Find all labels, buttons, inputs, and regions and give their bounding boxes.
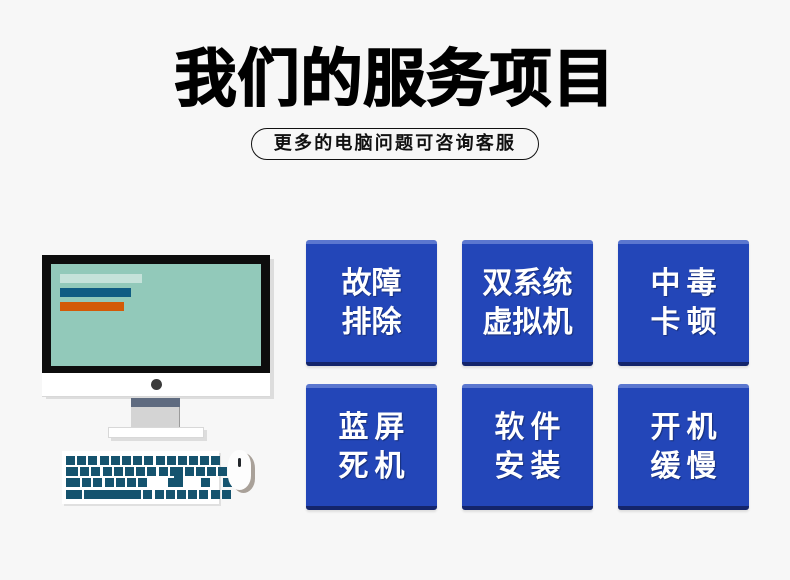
keyboard-key xyxy=(199,490,208,499)
monitor-icon xyxy=(42,255,270,403)
keyboard-key xyxy=(114,467,123,476)
monitor-stand-top xyxy=(131,398,180,407)
service-tile-line2: 死机 xyxy=(333,447,411,486)
keyboard-key xyxy=(144,456,153,465)
subtitle-pill: 更多的电脑问题可咨询客服 xyxy=(251,128,539,160)
keyboard-key xyxy=(66,490,82,499)
subtitle-text: 更多的电脑问题可咨询客服 xyxy=(274,135,516,153)
keyboard-key xyxy=(77,456,86,465)
keyboard-key xyxy=(66,456,75,465)
keyboard-key xyxy=(167,456,176,465)
service-tile-fault-troubleshooting[interactable]: 故障 排除 xyxy=(306,240,437,366)
keyboard-key xyxy=(82,478,91,487)
service-tile-line1: 中毒 xyxy=(645,264,723,303)
keyboard-key-space xyxy=(84,490,141,499)
keyboard-key xyxy=(93,478,102,487)
mouse-icon xyxy=(228,450,255,493)
mouse-body xyxy=(228,450,251,490)
keyboard-key xyxy=(166,490,175,499)
keyboard-row xyxy=(66,490,215,499)
keyboard-key xyxy=(211,456,220,465)
service-tile-slow-boot[interactable]: 开机 缓慢 xyxy=(618,384,749,510)
keyboard-key xyxy=(91,467,100,476)
keyboard-key xyxy=(80,467,89,476)
keyboard-key xyxy=(100,456,109,465)
service-tile-line2: 缓慢 xyxy=(645,447,723,486)
service-tile-line1: 故障 xyxy=(342,264,402,303)
keyboard-key xyxy=(136,467,145,476)
keyboard-key-gap xyxy=(190,478,199,487)
service-tile-grid: 故障 排除 双系统 虚拟机 中毒 卡顿 蓝屏 死机 软件 安装 开机 缓慢 xyxy=(306,240,748,510)
keyboard-key xyxy=(156,456,165,465)
desktop-computer-illustration xyxy=(28,240,293,520)
monitor-bezel xyxy=(42,255,270,373)
keyboard-key xyxy=(127,478,136,487)
keyboard-key xyxy=(178,456,187,465)
keyboard-key-gap xyxy=(149,478,165,487)
service-tile-virus-lag[interactable]: 中毒 卡顿 xyxy=(618,240,749,366)
service-tile-dual-boot-virtual-machine[interactable]: 双系统 虚拟机 xyxy=(462,240,593,366)
keyboard-key-enter xyxy=(170,467,183,476)
service-tile-line1: 软件 xyxy=(489,408,567,447)
keyboard-key xyxy=(111,456,120,465)
page-title: 我们的服务项目 xyxy=(0,0,790,112)
keyboard-key xyxy=(196,467,205,476)
keyboard-key xyxy=(177,490,186,499)
keyboard-key xyxy=(133,456,142,465)
keyboard-key xyxy=(105,478,114,487)
mouse-scroll-wheel xyxy=(238,458,241,467)
service-tile-line1: 开机 xyxy=(645,408,723,447)
keyboard-key xyxy=(103,467,112,476)
service-tile-line1: 蓝屏 xyxy=(333,408,411,447)
keyboard-key xyxy=(116,478,125,487)
keyboard-key xyxy=(189,456,198,465)
keyboard-key xyxy=(66,467,78,476)
service-tile-blue-screen-crash[interactable]: 蓝屏 死机 xyxy=(306,384,437,510)
keyboard-key xyxy=(185,467,194,476)
monitor-chin xyxy=(42,373,270,397)
keyboard-key xyxy=(138,478,147,487)
keyboard-key xyxy=(201,478,210,487)
monitor-stand-neck xyxy=(131,407,180,427)
keyboard-key xyxy=(188,490,197,499)
keyboard-row xyxy=(66,478,215,487)
keyboard-key xyxy=(122,456,131,465)
keyboard-key xyxy=(143,490,152,499)
service-tile-line2: 卡顿 xyxy=(645,303,723,342)
keyboard-key xyxy=(211,490,220,499)
service-tile-software-installation[interactable]: 软件 安装 xyxy=(462,384,593,510)
monitor-stand-base xyxy=(108,427,204,438)
keyboard-key xyxy=(155,490,164,499)
screen-bar-blue xyxy=(60,288,131,297)
page-header: 我们的服务项目 更多的电脑问题可咨询客服 xyxy=(0,0,790,160)
keyboard-row xyxy=(66,467,215,476)
monitor-screen xyxy=(51,264,261,366)
keyboard-key xyxy=(218,467,227,476)
service-tile-line2: 虚拟机 xyxy=(483,303,573,342)
subtitle-container: 更多的电脑问题可咨询客服 xyxy=(0,128,790,160)
keyboard-key xyxy=(125,467,134,476)
keyboard-key xyxy=(66,478,80,487)
keyboard-key xyxy=(207,467,216,476)
service-tile-line2: 安装 xyxy=(489,447,567,486)
keyboard-key xyxy=(200,456,209,465)
screen-bar-orange xyxy=(60,302,124,311)
keyboard-icon xyxy=(62,451,219,504)
keyboard-key xyxy=(147,467,156,476)
service-tile-line2: 排除 xyxy=(342,303,402,342)
keyboard-key xyxy=(88,456,97,465)
keyboard-row xyxy=(66,456,215,465)
keyboard-key-gap xyxy=(212,478,221,487)
service-tile-line1: 双系统 xyxy=(483,264,573,303)
screen-bar-light xyxy=(60,274,142,283)
keyboard-key xyxy=(159,467,168,476)
